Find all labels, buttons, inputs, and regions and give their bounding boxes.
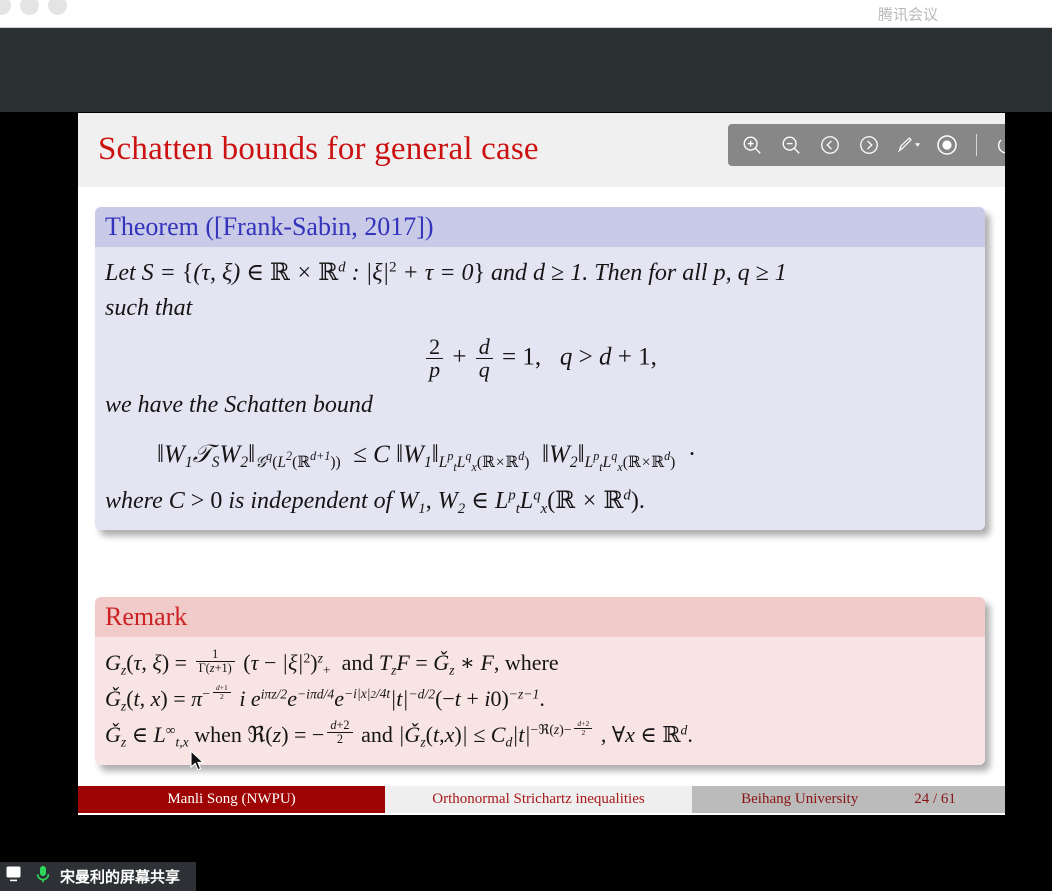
footer-page-number: 24 / 61 (914, 791, 956, 808)
theorem-bound-equation: ‖W1𝒯SW2‖𝒢q(L2(ℝd+1)) ≤ C ‖W1‖LptLqx(ℝ×ℝd… (157, 441, 975, 469)
minimize-window-icon[interactable] (20, 0, 39, 15)
theorem-body: Let S = {(τ, ξ) ∈ ℝ × ℝd : |ξ|2 + τ = 0}… (95, 247, 985, 530)
screen-root: 腾讯会议 Schatten bounds for general case Th… (0, 0, 1052, 891)
theorem-statement-tail: where C > 0 is independent of W1, W2 ∈ L… (105, 483, 975, 519)
remark-heading: Remark (95, 597, 985, 637)
screen-share-bar: 宋曼利的屏幕共享 (0, 862, 1052, 891)
slide-footer: Manli Song (NWPU) Orthonormal Strichartz… (78, 786, 1005, 813)
screen-share-pill[interactable]: 宋曼利的屏幕共享 (0, 862, 196, 891)
theorem-statement-lead: Let S = {(τ, ξ) ∈ ℝ × ℝd : |ξ|2 + τ = 0}… (105, 255, 975, 326)
remark-line-2: Ǧz(t, x) = π−d+12 i eiπz/2e−iπd/4e−i|x|2… (105, 681, 975, 717)
footer-author: Manli Song (NWPU) (78, 786, 385, 813)
window-title-bar: 腾讯会议 (0, 0, 1052, 28)
maximize-window-icon[interactable] (48, 0, 67, 15)
app-chrome-band (0, 28, 1052, 112)
laser-pointer-icon[interactable] (933, 131, 961, 159)
slide-title: Schatten bounds for general case (98, 131, 539, 168)
remark-line-1: Gz(τ, ξ) = 1Γ(z+1) (τ − |ξ|2)z+ and TzF … (105, 645, 975, 681)
theorem-display-equation: 2p + dq = 1, q > d + 1, (105, 336, 975, 382)
window-title: 腾讯会议 (878, 3, 938, 24)
screen-share-icon (6, 865, 26, 888)
zoom-in-icon[interactable] (738, 131, 766, 159)
close-window-icon[interactable] (0, 0, 11, 15)
remark-body: Gz(τ, ξ) = 1Γ(z+1) (τ − |ξ|2)z+ and TzF … (95, 637, 985, 765)
zoom-out-icon[interactable] (777, 131, 805, 159)
traffic-light-group (0, 0, 67, 15)
footer-institution: Beihang University (741, 791, 858, 808)
theorem-statement-mid: we have the Schatten bound (105, 388, 975, 423)
footer-institution-group: Beihang University 24 / 61 (692, 786, 1005, 813)
pen-tool-icon[interactable] (894, 131, 922, 159)
toolbar-divider (976, 134, 977, 156)
theorem-heading: Theorem ([Frank-Sabin, 2017]) (95, 207, 985, 247)
slide-right-mask (1005, 113, 1052, 815)
footer-talk-title: Orthonormal Strichartz inequalities (385, 786, 692, 813)
screen-share-label: 宋曼利的屏幕共享 (60, 866, 180, 887)
next-slide-icon[interactable] (855, 131, 883, 159)
previous-slide-icon[interactable] (816, 131, 844, 159)
presentation-slide: Schatten bounds for general case Theorem… (78, 113, 1005, 815)
remark-line-3: Ǧz ∈ L∞t,x when ℜ(z) = −d+22 and |Ǧz(t,x… (105, 717, 975, 754)
remark-block: Remark Gz(τ, ξ) = 1Γ(z+1) (τ − |ξ|2)z+ a… (95, 597, 985, 765)
microphone-icon[interactable] (35, 864, 51, 889)
presentation-toolbar: Exit Pl (728, 124, 1052, 166)
theorem-block: Theorem ([Frank-Sabin, 2017]) Let S = {(… (95, 207, 985, 530)
